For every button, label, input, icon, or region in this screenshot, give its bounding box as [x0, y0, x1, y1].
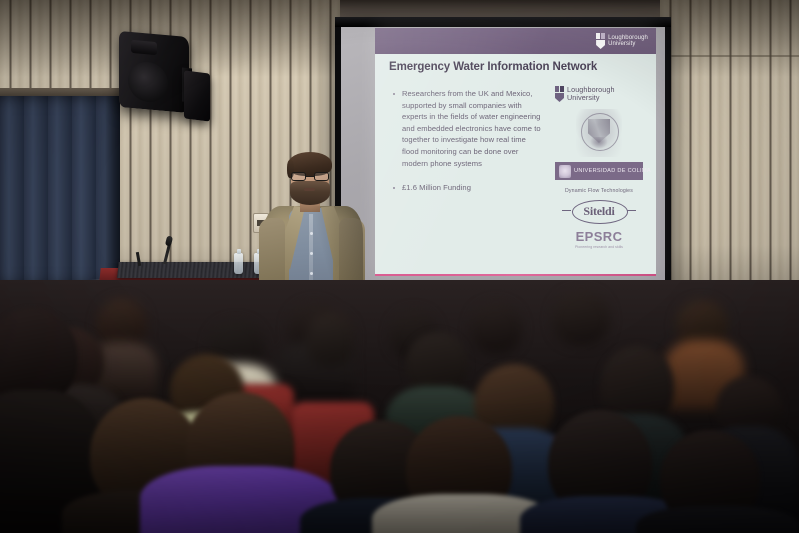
loughborough-logo-text: Loughborough University [608, 35, 648, 48]
presenter-mouth [304, 188, 315, 191]
seated-audience [0, 280, 799, 533]
colima-seal-icon [559, 165, 571, 178]
water-bottle [234, 253, 243, 274]
audience-head [552, 290, 610, 346]
loughborough-crest-icon [555, 86, 564, 102]
shirt-button [310, 232, 313, 235]
glasses-icon [291, 172, 329, 181]
loughborough-university-logo: Loughborough University [555, 86, 615, 102]
presenter-beard [290, 181, 330, 205]
slide-bullet: Researchers from the UK and Mexico, supp… [391, 88, 541, 169]
pa-speaker-tweeter [131, 40, 157, 55]
glasses-lens-left [291, 172, 306, 181]
wall-seam [660, 55, 799, 57]
siteldi-tick-icon [562, 210, 571, 211]
loughborough-crest-icon [596, 33, 605, 49]
slide-accent-bar [375, 274, 656, 277]
dynamic-flow-technologies-logo: Dynamic Flow Technologies [565, 188, 633, 194]
epsrc-logo: EPSRC Pioneering research and skills [575, 229, 623, 249]
universidad-de-colima-logo: UNIVERSIDAD DE COLIMA [555, 162, 643, 180]
unam-crest-logo [576, 109, 622, 157]
shirt-button [310, 272, 313, 275]
shirt-button [310, 252, 313, 255]
slide-partner-logos: Loughborough University UNIVERSIDAD DE C… [553, 86, 645, 249]
slide-header-band: Loughborough University [375, 28, 656, 54]
audience-head [406, 332, 468, 394]
epsrc-logo-text: EPSRC [576, 229, 623, 244]
slide-bullet: £1.6 Million Funding [391, 182, 541, 194]
projection-screen-top-bar [335, 17, 671, 27]
window-curtain [0, 96, 120, 286]
projected-slide: Loughborough University Emergency Water … [375, 28, 656, 276]
epsrc-logo-subtitle: Pioneering research and skills [575, 245, 623, 249]
audience-head [470, 302, 522, 354]
unam-eagle-icon [590, 137, 608, 149]
glasses-lens-right [314, 172, 329, 181]
colima-logo-text: UNIVERSIDAD DE COLIMA [574, 168, 651, 174]
glasses-bridge [306, 176, 314, 177]
loughborough-university-logo: Loughborough University [596, 33, 648, 49]
audience-torso [636, 506, 799, 533]
slide-title: Emergency Water Information Network [389, 61, 641, 73]
loughborough-logo-text: Loughborough University [567, 86, 615, 102]
slide-body: Researchers from the UK and Mexico, supp… [391, 88, 541, 207]
audience-head [306, 318, 354, 366]
lecture-hall-photo: Loughborough University Emergency Water … [0, 0, 799, 533]
siteldi-tick-icon [627, 210, 636, 211]
siteldi-logo-text: Siteldi [583, 204, 614, 219]
siteldi-logo: Siteldi [562, 199, 636, 223]
pa-speaker-secondary [184, 70, 210, 121]
